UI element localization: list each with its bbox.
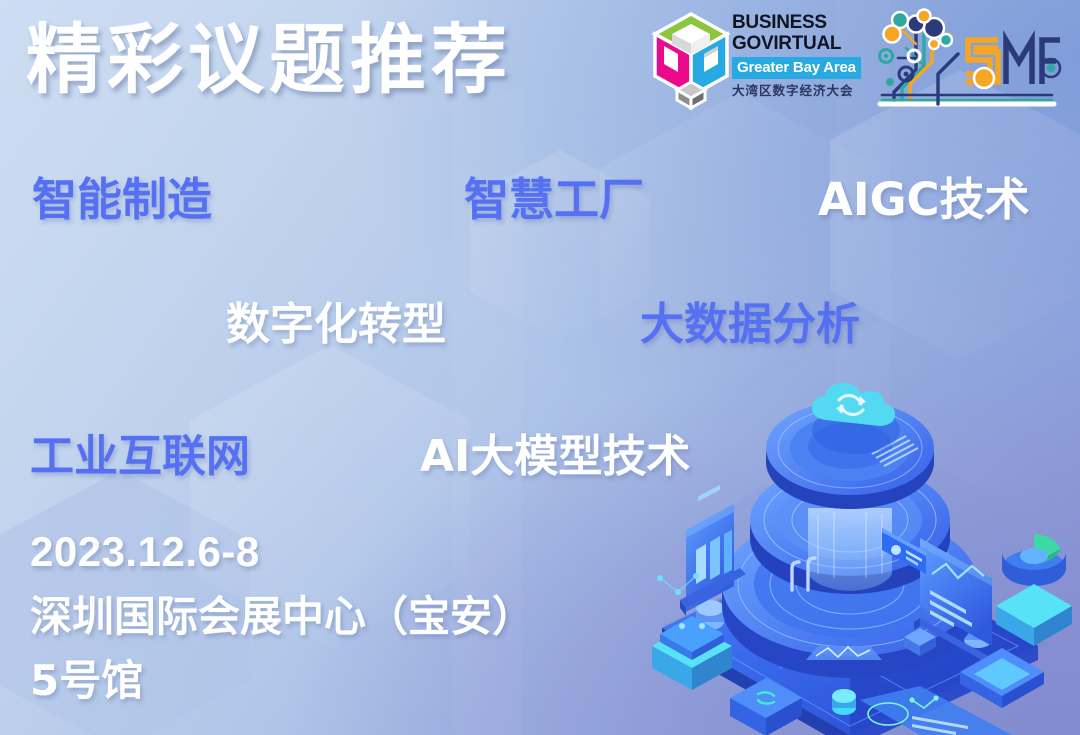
event-date: 2023.12.6-8: [30, 524, 650, 580]
govirtual-badge: Greater Bay Area: [732, 57, 861, 79]
govirtual-logo-text: BUSINESS GOVIRTUAL Greater Bay Area 大湾区数…: [732, 12, 867, 98]
ismf-logo-icon: [872, 4, 1062, 116]
topic-keyword[interactable]: 工业互联网: [30, 420, 250, 484]
topic-keyword[interactable]: 数字化转型: [226, 288, 446, 352]
poster-root: 精彩议题推荐: [0, 0, 1080, 735]
topic-keyword[interactable]: 大数据分析: [640, 288, 860, 352]
event-hall: 5号馆: [30, 652, 650, 710]
business-govirtual-logo: BUSINESS GOVIRTUAL Greater Bay Area 大湾区数…: [648, 8, 863, 116]
govirtual-chinese-subtitle: 大湾区数字经济大会: [732, 83, 867, 98]
page-title: 精彩议题推荐: [26, 8, 512, 112]
govirtual-cube-icon: [648, 10, 734, 110]
isometric-cloud-platform-illustration: [620, 378, 1080, 735]
event-info-block: 2023.12.6-8 深圳国际会展中心（宝安） 5号馆: [30, 524, 650, 710]
topic-keyword[interactable]: 智能制造: [32, 163, 212, 228]
event-venue: 深圳国际会展中心（宝安）: [30, 586, 650, 648]
topic-keyword[interactable]: 智慧工厂: [464, 163, 644, 228]
govirtual-line-2: GOVIRTUAL: [732, 33, 867, 54]
govirtual-line-1: BUSINESS: [732, 12, 867, 33]
topic-keyword[interactable]: AIGC技术: [818, 163, 1030, 228]
poster-header: 精彩议题推荐: [0, 0, 1080, 130]
